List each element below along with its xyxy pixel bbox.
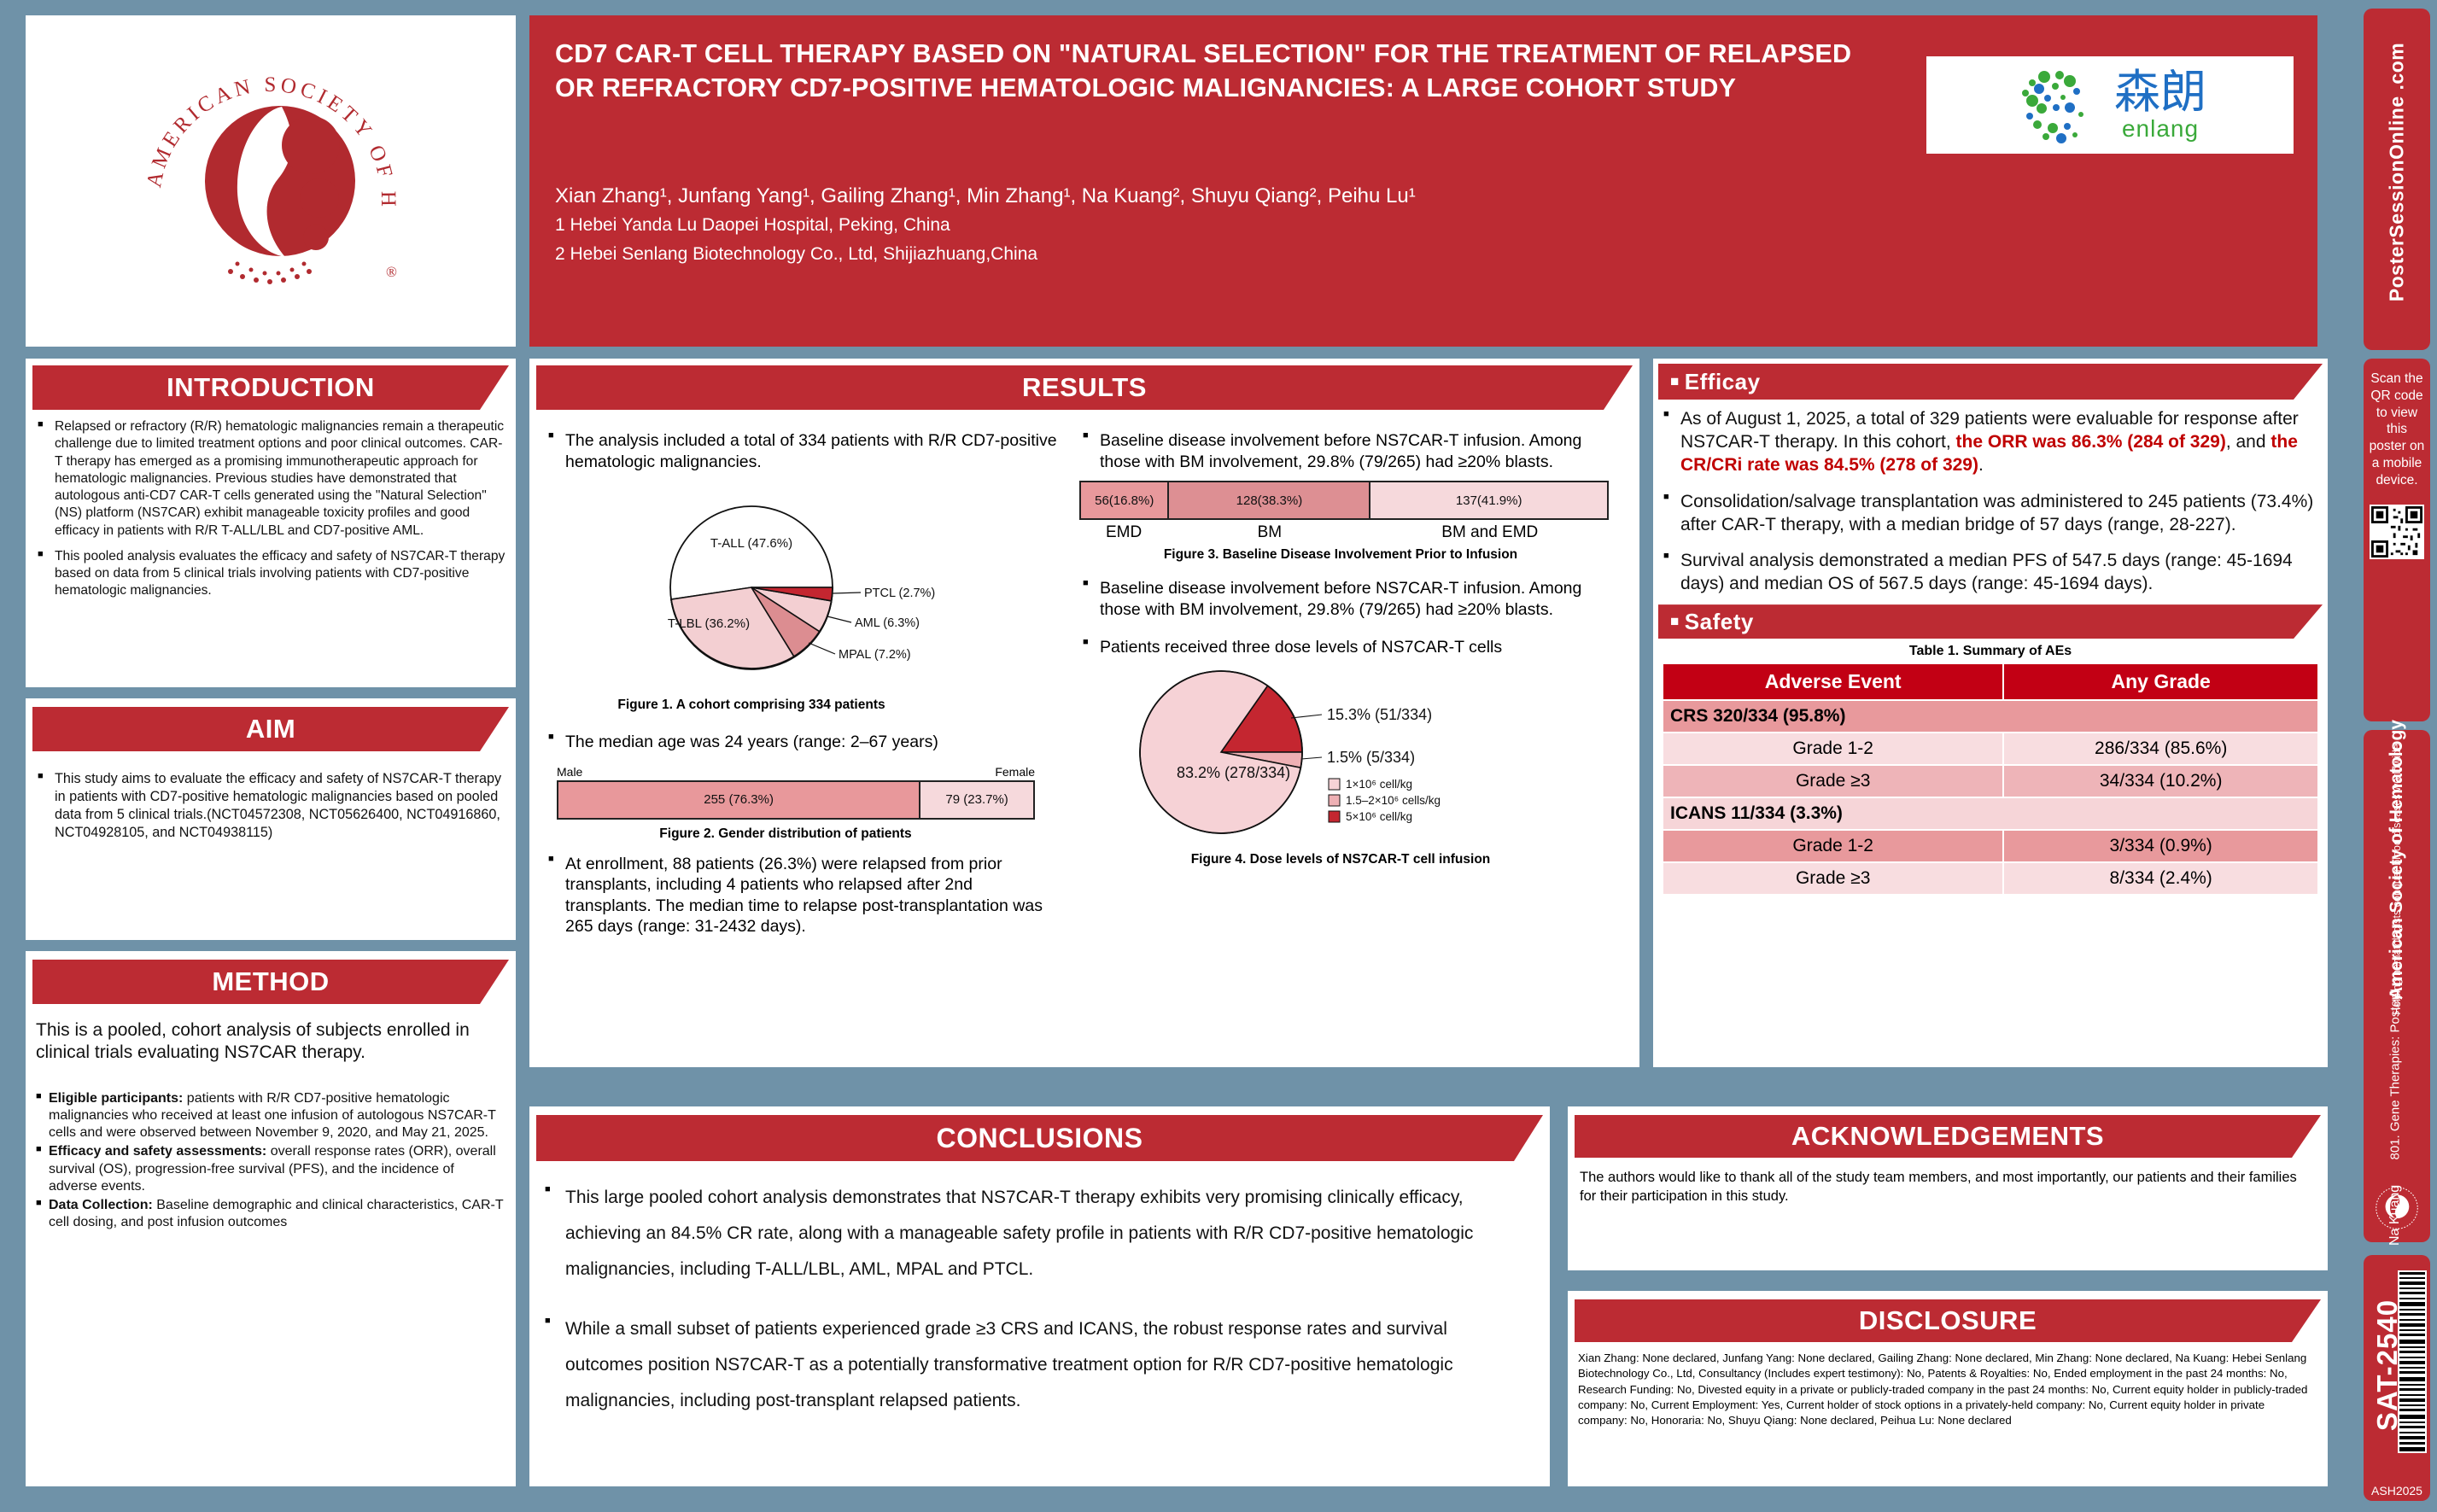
figure3-seg-emd: 56(16.8%)	[1081, 482, 1169, 518]
sponsor-logo-card: 森朗 enlang	[1926, 56, 2294, 154]
efficacy-safety-section: ■ Efficay As of August 1, 2025, a total …	[1653, 359, 2328, 1067]
row-icans-group: ICANS 11/334 (3.3%)	[1663, 797, 2318, 830]
sponsor-wordmark: 森朗 enlang	[2114, 69, 2206, 141]
list-item: This study aims to evaluate the efficacy…	[36, 770, 506, 842]
figure4-caption: Figure 4. Dose levels of NS7CAR-T cell i…	[1076, 852, 1605, 867]
senlang-mark-icon	[2013, 63, 2102, 147]
list-item: The analysis included a total of 334 pat…	[546, 430, 1059, 472]
disclosure-section: DISCLOSURE Xian Zhang: None declared, Ju…	[1568, 1291, 2328, 1486]
conclusions-bullets: This large pooled cohort analysis demons…	[543, 1180, 1528, 1419]
safety-heading: ■ Safety	[1658, 604, 2323, 639]
figure4-legend-2: 1.5–2×10⁶ cells/kg	[1346, 794, 1441, 807]
list-item: While a small subset of patients experie…	[543, 1311, 1528, 1419]
figure3-stacked-bar: 56(16.8%) 128(38.3%) 137(41.9%)	[1079, 481, 1609, 520]
row-icans-g3-value: 8/334 (2.4%)	[2003, 862, 2318, 895]
table-row: CRS 320/334 (95.8%)	[1663, 700, 2318, 733]
results-baseline-bullet-2: Baseline disease involvement before NS7C…	[1076, 563, 1631, 620]
results-dose-bullet: Patients received three dose levels of N…	[1076, 628, 1631, 658]
ash-logo-icon: AMERICAN SOCIETY OF HEMATOLOGY ®	[130, 53, 412, 309]
row-crs-g3-value: 34/334 (10.2%)	[2003, 765, 2318, 797]
introduction-heading: INTRODUCTION	[32, 365, 509, 410]
barcode-icon	[2398, 1270, 2427, 1453]
figure4-pie-svg: 83.2% (278/334) 15.3% (51/334) 1.5% (5/3…	[1076, 667, 1622, 850]
table-row: ICANS 11/334 (3.3%)	[1663, 797, 2318, 830]
list-item: Survival analysis demonstrated a median …	[1662, 550, 2316, 596]
table-row: Grade 1-2 3/334 (0.9%)	[1663, 830, 2318, 862]
table-row: Grade 1-2 286/334 (85.6%)	[1663, 733, 2318, 765]
figure2-caption: Figure 2. Gender distribution of patient…	[538, 826, 1033, 842]
figure3-cat-bm: BM	[1168, 523, 1370, 542]
figure3-seg-bm-emd: 137(41.9%)	[1370, 482, 1607, 518]
figure4-legend-1: 1×10⁶ cell/kg	[1346, 778, 1412, 791]
ash-logo-card: AMERICAN SOCIETY OF HEMATOLOGY ®	[26, 15, 516, 347]
figure4-label-dose3: 15.3% (51/334)	[1327, 706, 1432, 723]
disclosure-text: Xian Zhang: None declared, Junfang Yang:…	[1568, 1342, 2328, 1429]
method-section: METHOD This is a pooled, cohort analysis…	[26, 951, 516, 1486]
rail-brand-pill: PosterSessionOnline .com	[2364, 9, 2430, 350]
method-item-label: Data Collection:	[49, 1198, 153, 1212]
figure2-chart: Male Female 255 (76.3%) 79 (23.7%)	[557, 765, 1035, 820]
table-row: Grade ≥3 8/334 (2.4%)	[1663, 862, 2318, 895]
row-crs-group: CRS 320/334 (95.8%)	[1663, 700, 2318, 733]
figure1-label-ptcl: PTCL (2.7%)	[864, 587, 935, 600]
list-item: Baseline disease involvement before NS7C…	[1081, 430, 1621, 472]
row-icans-g12-value: 3/334 (0.9%)	[2003, 830, 2318, 862]
method-item-label: Efficacy and safety assessments:	[49, 1144, 266, 1159]
list-item: Consolidation/salvage transplantation wa…	[1662, 491, 2316, 537]
poster-canvas: AMERICAN SOCIETY OF HEMATOLOGY ® CD7 CAR…	[0, 0, 2437, 1512]
efficacy-heading: ■ Efficay	[1658, 364, 2323, 400]
list-item: This large pooled cohort analysis demons…	[543, 1180, 1528, 1287]
figure1-chart: T-ALL (47.6%) T-LBL (36.2%) MPAL (7.2%) …	[538, 481, 1067, 694]
figure1-pie-svg: T-ALL (47.6%) T-LBL (36.2%) MPAL (7.2%) …	[538, 481, 1067, 694]
results-enrollment-bullet: At enrollment, 88 patients (26.3%) were …	[538, 842, 1067, 937]
results-cohort-bullet: The analysis included a total of 334 pat…	[538, 425, 1067, 472]
list-item: Efficacy and safety assessments: overall…	[36, 1143, 506, 1194]
efficacy-bullet-square-icon: ■	[1670, 373, 1680, 390]
figure2-stacked-bar: 255 (76.3%) 79 (23.7%)	[557, 780, 1035, 820]
poster-title: CD7 CAR-T CELL THERAPY BASED ON "NATURAL…	[555, 38, 1887, 105]
method-items: Eligible participants: patients with R/R…	[36, 1090, 506, 1231]
figure3-caption: Figure 3. Baseline Disease Involvement P…	[1076, 547, 1605, 563]
disclosure-heading: DISCLOSURE	[1575, 1299, 2321, 1342]
figure2-seg-male: 255 (76.3%)	[558, 782, 920, 818]
list-item: The median age was 24 years (range: 2–67…	[546, 732, 1059, 753]
affiliation-1: 1 Hebei Yanda Lu Daopei Hospital, Peking…	[555, 215, 950, 236]
figure4-label-dose2: 1.5% (5/334)	[1327, 749, 1415, 766]
rail-session-group: 801. Gene Therapies: Poster I Na Kuang	[2364, 854, 2430, 1242]
results-heading: RESULTS	[536, 365, 1633, 410]
method-intro: This is a pooled, cohort analysis of sub…	[36, 1019, 506, 1065]
figure4-legend-3: 5×10⁶ cell/kg	[1346, 810, 1412, 823]
list-item: Eligible participants: patients with R/R…	[36, 1090, 506, 1141]
acknowledgements-heading: ACKNOWLEDGEMENTS	[1575, 1115, 2321, 1158]
results-baseline-bullet-1: Baseline disease involvement before NS7C…	[1076, 425, 1631, 472]
results-age-bullet: The median age was 24 years (range: 2–67…	[538, 713, 1067, 753]
affiliation-2: 2 Hebei Senlang Biotechnology Co., Ltd, …	[555, 244, 1037, 265]
rail-scan-text: Scan the QR code to view this poster on …	[2369, 371, 2425, 489]
table-header-row: Adverse Event Any Grade	[1663, 663, 2318, 700]
col-adverse-event: Adverse Event	[1663, 663, 2003, 700]
safety-heading-label: Safety	[1685, 609, 1754, 635]
row-crs-g12-label: Grade 1-2	[1663, 733, 2003, 765]
qr-code-icon[interactable]	[2370, 505, 2424, 559]
efficacy-b1-mid: , and	[2226, 432, 2271, 452]
svg-text:®: ®	[386, 264, 397, 280]
figure1-label-tall: T-ALL (47.6%)	[710, 536, 792, 551]
conclusions-heading: CONCLUSIONS	[536, 1115, 1543, 1161]
figure1-caption: Figure 1. A cohort comprising 334 patien…	[538, 698, 965, 713]
figure2-cat-female: Female	[995, 765, 1035, 779]
rail-meeting-label: ASH2025	[2364, 1484, 2430, 1497]
adverse-events-table: Adverse Event Any Grade CRS 320/334 (95.…	[1662, 663, 2319, 896]
acknowledgements-section: ACKNOWLEDGEMENTS The authors would like …	[1568, 1106, 2328, 1270]
figure1-label-mpal: MPAL (7.2%)	[839, 648, 911, 662]
figure1-label-aml: AML (6.3%)	[855, 616, 920, 630]
col-any-grade: Any Grade	[2003, 663, 2318, 700]
rail-presenter-label: Na Kuang	[2387, 1092, 2403, 1246]
list-item: Baseline disease involvement before NS7C…	[1081, 578, 1621, 620]
figure2-cat-male: Male	[557, 765, 582, 779]
method-heading: METHOD	[32, 960, 509, 1004]
efficacy-heading-label: Efficay	[1685, 369, 1761, 395]
rail-poster-number-pill: SAT-2540	[2364, 1255, 2430, 1501]
aim-bullets: This study aims to evaluate the efficacy…	[36, 770, 506, 842]
row-crs-g3-label: Grade ≥3	[1663, 765, 2003, 797]
table-row: Grade ≥3 34/334 (10.2%)	[1663, 765, 2318, 797]
list-item: As of August 1, 2025, a total of 329 pat…	[1662, 408, 2316, 477]
method-item-label: Eligible participants:	[49, 1091, 183, 1106]
list-item: At enrollment, 88 patients (26.3%) were …	[546, 854, 1059, 937]
conference-rail: PosterSessionOnline .com Scan the QR cod…	[2357, 0, 2437, 1512]
figure3-chart: 56(16.8%) 128(38.3%) 137(41.9%) EMD BM B…	[1079, 481, 1619, 542]
list-item: This pooled analysis evaluates the effic…	[36, 548, 506, 600]
aim-heading: AIM	[32, 707, 509, 751]
safety-bullet-square-icon: ■	[1670, 613, 1680, 630]
acknowledgements-text: The authors would like to thank all of t…	[1568, 1158, 2328, 1206]
efficacy-bullets: As of August 1, 2025, a total of 329 pat…	[1662, 408, 2316, 596]
efficacy-orr-highlight: the ORR was 86.3% (284 of 329)	[1956, 432, 2226, 452]
figure4-label-dose1: 83.2% (278/334)	[1177, 764, 1290, 781]
row-crs-g12-value: 286/334 (85.6%)	[2003, 733, 2318, 765]
figure4-chart: 83.2% (278/334) 15.3% (51/334) 1.5% (5/3…	[1076, 667, 1631, 850]
row-icans-g12-label: Grade 1-2	[1663, 830, 2003, 862]
row-icans-g3-label: Grade ≥3	[1663, 862, 2003, 895]
list-item: Data Collection: Baseline demographic an…	[36, 1197, 506, 1231]
results-section: RESULTS The analysis included a total of…	[529, 359, 1639, 1067]
rail-brand-label: PosterSessionOnline .com	[2386, 10, 2409, 335]
figure3-cat-emd: EMD	[1079, 523, 1168, 542]
safety-table-title: Table 1. Summary of AEs	[1653, 644, 2328, 659]
figure1-label-tlbl: T-LBL (36.2%)	[668, 616, 750, 631]
figure3-seg-bm: 128(38.3%)	[1169, 482, 1370, 518]
figure3-cat-bm-emd: BM and EMD	[1371, 523, 1609, 542]
introduction-bullets: Relapsed or refractory (R/R) hematologic…	[36, 418, 506, 600]
title-banner: CD7 CAR-T CELL THERAPY BASED ON "NATURAL…	[529, 15, 2317, 347]
list-item: Patients received three dose levels of N…	[1081, 637, 1621, 658]
aim-section: AIM This study aims to evaluate the effi…	[26, 698, 516, 940]
figure2-seg-female: 79 (23.7%)	[920, 782, 1033, 818]
list-item: Relapsed or refractory (R/R) hematologic…	[36, 418, 506, 540]
author-list: Xian Zhang¹, Junfang Yang¹, Gailing Zhan…	[555, 184, 1416, 208]
conclusions-section: CONCLUSIONS This large pooled cohort ana…	[529, 1106, 1550, 1486]
efficacy-b1-post: .	[1978, 455, 1984, 475]
introduction-section: INTRODUCTION Relapsed or refractory (R/R…	[26, 359, 516, 687]
